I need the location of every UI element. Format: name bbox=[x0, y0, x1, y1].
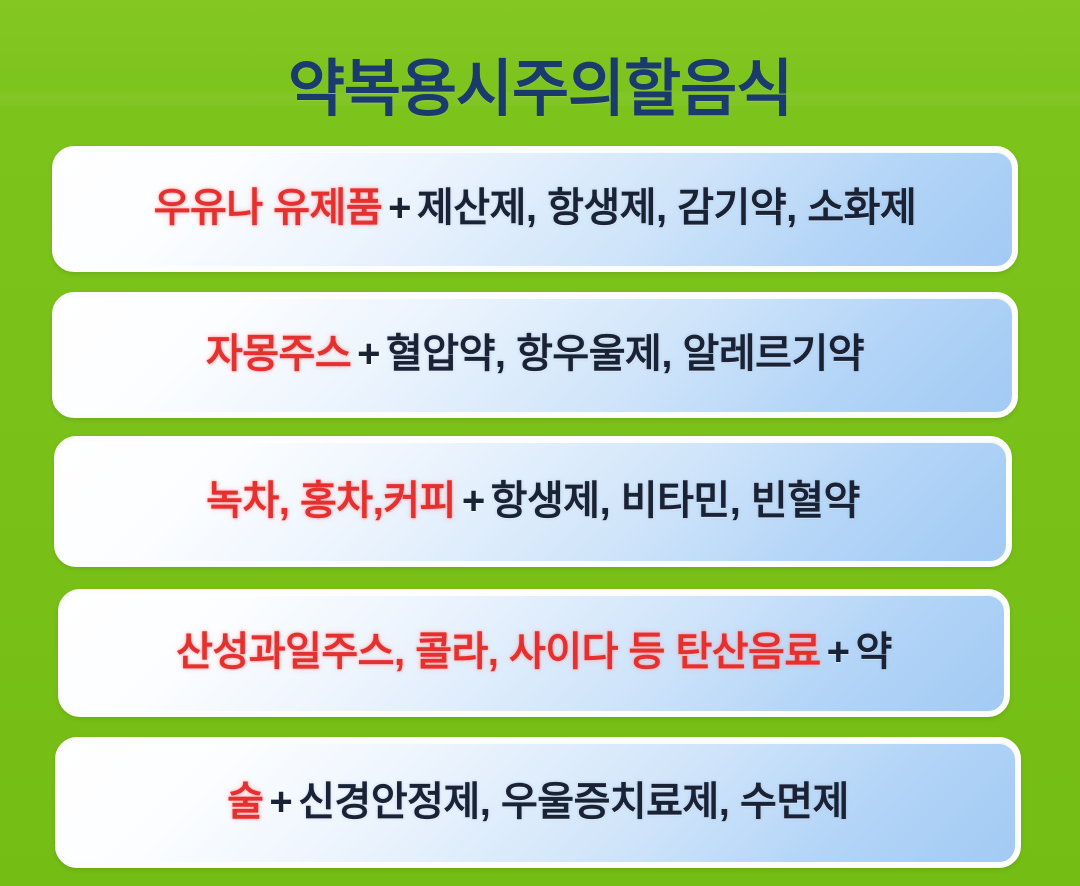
list-item-row-2: 자몽주스+혈압약, 항우울제, 알레르기약 bbox=[52, 292, 1018, 418]
row-4-drug-label: 약 bbox=[856, 630, 892, 674]
row-4-text: 산성과일주스, 콜라, 사이다 등 탄산음료+약 bbox=[162, 629, 906, 676]
list-item-row-1: 우유나 유제품+제산제, 항생제, 감기약, 소화제 bbox=[52, 146, 1018, 272]
page-title: 약복용시주의할음식 bbox=[0, 48, 1080, 132]
row-3-text: 녹차, 홍차,커피+항생제, 비타민, 빈혈약 bbox=[192, 478, 874, 525]
row-1-plus-icon: + bbox=[382, 186, 417, 230]
row-1-drug-label: 제산제, 항생제, 감기약, 소화제 bbox=[417, 186, 916, 230]
row-5-food-label: 술 bbox=[227, 780, 263, 824]
row-3-food-label: 녹차, 홍차,커피 bbox=[206, 479, 456, 523]
row-2-food-label: 자몽주스 bbox=[206, 332, 351, 376]
row-3-plus-icon: + bbox=[456, 479, 491, 523]
row-5-text: 술+신경안정제, 우울증치료제, 수면제 bbox=[213, 779, 863, 826]
row-2-text: 자몽주스+혈압약, 항우울제, 알레르기약 bbox=[192, 331, 878, 378]
row-5-drug-label: 신경안정제, 우울증치료제, 수면제 bbox=[298, 780, 849, 824]
row-4-food-label: 산성과일주스, 콜라, 사이다 등 탄산음료 bbox=[176, 630, 820, 674]
row-1-text: 우유나 유제품+제산제, 항생제, 감기약, 소화제 bbox=[140, 185, 931, 232]
row-4-plus-icon: + bbox=[821, 630, 856, 674]
poster-root: 약복용시주의할음식 우유나 유제품+제산제, 항생제, 감기약, 소화제 자몽주… bbox=[0, 0, 1080, 886]
row-2-drug-label: 혈압약, 항우울제, 알레르기약 bbox=[386, 332, 864, 376]
row-2-plus-icon: + bbox=[351, 332, 386, 376]
row-1-food-label: 우유나 유제품 bbox=[154, 186, 382, 230]
list-item-row-3: 녹차, 홍차,커피+항생제, 비타민, 빈혈약 bbox=[54, 436, 1012, 567]
list-item-row-4: 산성과일주스, 콜라, 사이다 등 탄산음료+약 bbox=[58, 589, 1010, 717]
list-item-row-5: 술+신경안정제, 우울증치료제, 수면제 bbox=[55, 737, 1021, 868]
row-5-plus-icon: + bbox=[263, 780, 298, 824]
row-3-drug-label: 항생제, 비타민, 빈혈약 bbox=[491, 479, 860, 523]
